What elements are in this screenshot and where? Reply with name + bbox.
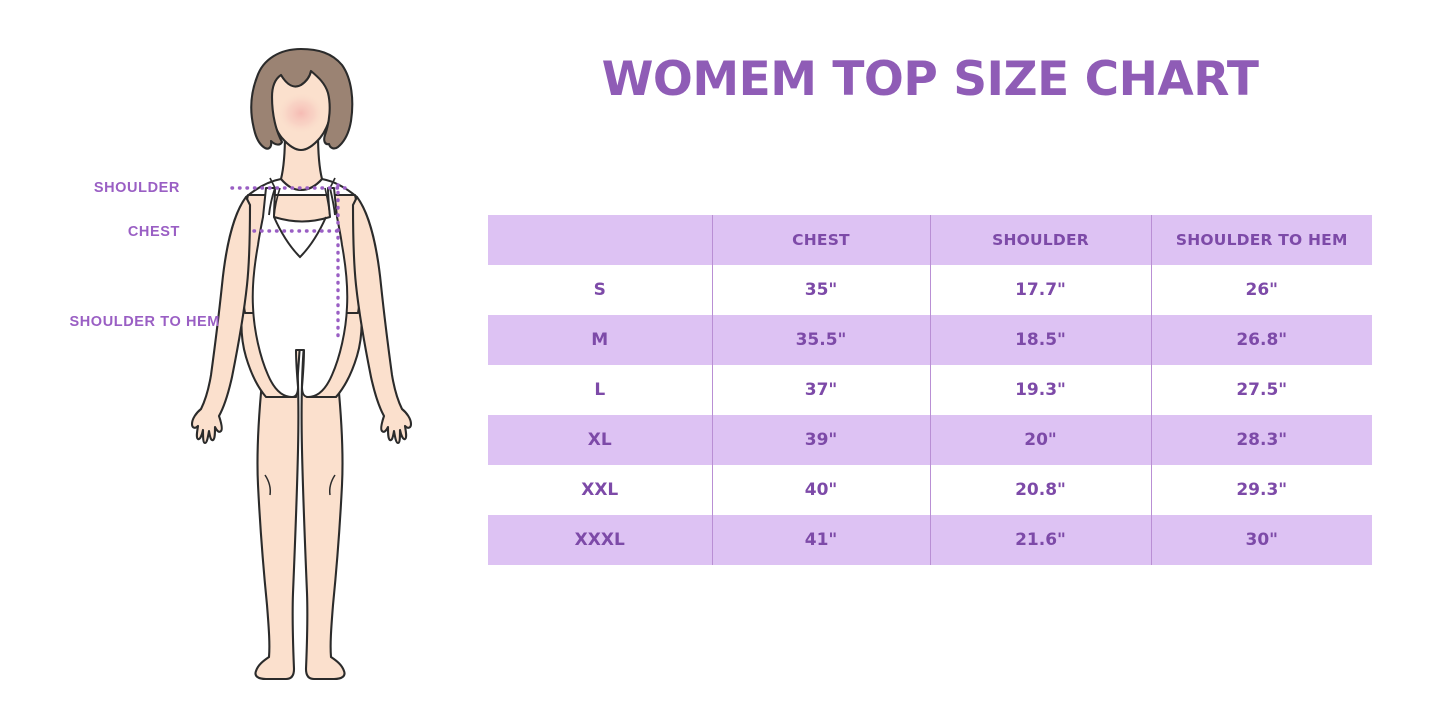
cell-chest: 35.5" bbox=[712, 315, 930, 365]
cell-chest: 35" bbox=[712, 265, 930, 315]
table-header-chest: CHEST bbox=[712, 215, 930, 265]
table-row: L37"19.3"27.5" bbox=[488, 365, 1372, 415]
cell-shoulder-to-hem: 26" bbox=[1151, 265, 1372, 315]
cell-shoulder-to-hem: 30" bbox=[1151, 515, 1372, 565]
cell-size: L bbox=[488, 365, 712, 415]
cell-shoulder: 20" bbox=[930, 415, 1151, 465]
cell-shoulder-to-hem: 27.5" bbox=[1151, 365, 1372, 415]
measurement-label-shoulder: SHOULDER bbox=[0, 180, 180, 196]
table-row: M35.5"18.5"26.8" bbox=[488, 315, 1372, 365]
size-chart-table: CHEST SHOULDER SHOULDER TO HEM S35"17.7"… bbox=[488, 215, 1372, 565]
table-header-shoulder-to-hem: SHOULDER TO HEM bbox=[1151, 215, 1372, 265]
cell-chest: 40" bbox=[712, 465, 930, 515]
face-blush bbox=[276, 89, 326, 133]
cell-shoulder-to-hem: 26.8" bbox=[1151, 315, 1372, 365]
cell-size: XL bbox=[488, 415, 712, 465]
cell-shoulder-to-hem: 29.3" bbox=[1151, 465, 1372, 515]
table-header-size bbox=[488, 215, 712, 265]
cell-shoulder: 20.8" bbox=[930, 465, 1151, 515]
cell-chest: 37" bbox=[712, 365, 930, 415]
cell-size: XXL bbox=[488, 465, 712, 515]
table-row: XXL40"20.8"29.3" bbox=[488, 465, 1372, 515]
cell-chest: 41" bbox=[712, 515, 930, 565]
table-header-shoulder: SHOULDER bbox=[930, 215, 1151, 265]
table-row: XXXL41"21.6"30" bbox=[488, 515, 1372, 565]
cell-chest: 39" bbox=[712, 415, 930, 465]
figure-body-group bbox=[192, 49, 411, 679]
cell-shoulder: 17.7" bbox=[930, 265, 1151, 315]
table-row: XL39"20"28.3" bbox=[488, 415, 1372, 465]
cell-shoulder-to-hem: 28.3" bbox=[1151, 415, 1372, 465]
size-chart-table-body: S35"17.7"26"M35.5"18.5"26.8"L37"19.3"27.… bbox=[488, 265, 1372, 565]
right-arm-shape bbox=[353, 197, 411, 443]
body-figure-illustration bbox=[170, 45, 430, 685]
page-title: WOMEM TOP SIZE CHART bbox=[470, 52, 1390, 107]
measurement-label-chest: CHEST bbox=[0, 224, 180, 240]
cell-shoulder: 19.3" bbox=[930, 365, 1151, 415]
cell-size: S bbox=[488, 265, 712, 315]
measurement-label-shoulder-to-hem: SHOULDER TO HEM bbox=[0, 314, 220, 330]
cell-size: M bbox=[488, 315, 712, 365]
cell-shoulder: 21.6" bbox=[930, 515, 1151, 565]
cell-shoulder: 18.5" bbox=[930, 315, 1151, 365]
table-header-row: CHEST SHOULDER SHOULDER TO HEM bbox=[488, 215, 1372, 265]
cell-size: XXXL bbox=[488, 515, 712, 565]
table-row: S35"17.7"26" bbox=[488, 265, 1372, 315]
